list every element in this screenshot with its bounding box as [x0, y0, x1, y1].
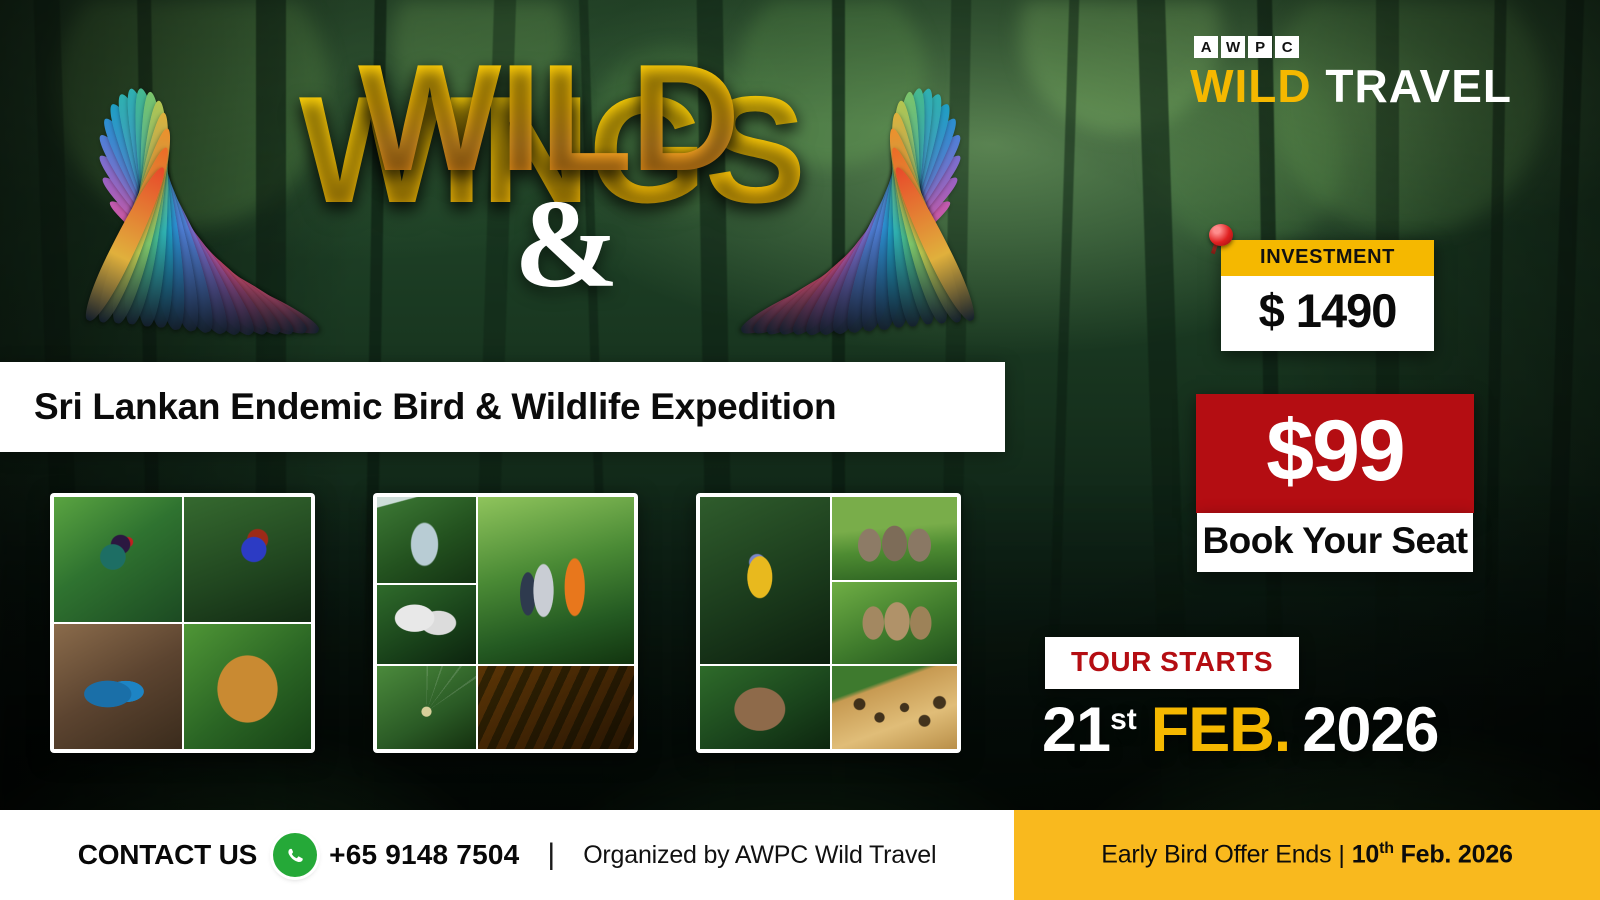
photo-trekkers-on-jungle-trail	[478, 497, 634, 664]
pushpin-icon	[1207, 224, 1235, 254]
early-bird-day-suffix: th	[1379, 840, 1394, 857]
photo-tree-nymph-butterfly	[377, 585, 476, 664]
photo-white-throated-kingfisher	[184, 497, 312, 622]
footer-bar: CONTACT US +65 9148 7504 | Organized by …	[0, 810, 1600, 900]
photo-asian-elephant-herd	[832, 497, 957, 580]
footer-contact-section: CONTACT US +65 9148 7504 | Organized by …	[0, 810, 1014, 900]
contact-phone[interactable]: +65 9148 7504	[329, 839, 519, 871]
pushpin-head	[1209, 224, 1233, 246]
photo-serendib-scops-owl	[184, 624, 312, 749]
logo-word-travel: TRAVEL	[1325, 60, 1512, 112]
early-bird-divider: |	[1338, 841, 1344, 869]
title-line-wild: WILD	[358, 48, 878, 189]
early-bird-day: 10	[1352, 841, 1379, 869]
photo-rainforest-waterfall	[377, 497, 476, 583]
photo-giant-wood-spider	[377, 666, 476, 749]
photo-green-pit-viper	[478, 666, 634, 749]
collage-birds-and-wildlife	[50, 493, 315, 753]
photo-collages	[50, 493, 961, 753]
early-bird-date: Feb. 2026	[1401, 841, 1513, 869]
photo-sri-lanka-frogmouths	[832, 582, 957, 665]
logo-badge-w: W	[1221, 36, 1245, 58]
deposit-price: $99	[1196, 394, 1474, 513]
investment-label: INVESTMENT	[1221, 240, 1434, 276]
investment-amount: $ 1490	[1221, 276, 1434, 351]
photo-sri-lanka-blue-magpie	[54, 497, 182, 622]
promo-banner: WINGS WILD & A W P C WILD TRAVEL Sri Lan…	[0, 0, 1600, 900]
whatsapp-icon[interactable]	[273, 833, 317, 877]
logo-word-wild: WILD	[1190, 60, 1312, 112]
logo-badge-c: C	[1275, 36, 1299, 58]
hero-title: WINGS WILD &	[238, 62, 878, 362]
logo-wordmark: WILD TRAVEL	[1190, 63, 1512, 109]
photo-blue-butterfly	[54, 624, 182, 749]
ampersand-glyph: &	[514, 182, 619, 308]
tour-month: FEB.	[1151, 695, 1291, 765]
footer-divider: |	[547, 838, 555, 872]
early-bird-text: Early Bird Offer Ends|10th Feb. 2026	[1101, 840, 1512, 869]
tour-starts-badge: TOUR STARTS	[1045, 637, 1299, 689]
subtitle-bar: Sri Lankan Endemic Bird & Wildlife Exped…	[0, 362, 1005, 452]
expedition-subtitle: Sri Lankan Endemic Bird & Wildlife Exped…	[34, 386, 836, 428]
photo-canary-flycatcher	[700, 497, 830, 664]
logo-badge-a: A	[1194, 36, 1218, 58]
contact-us-label: CONTACT US	[78, 839, 257, 871]
awpc-badges: A W P C	[1194, 36, 1512, 58]
tour-day: 21	[1042, 695, 1110, 765]
tour-day-suffix: st	[1110, 703, 1137, 736]
logo-badge-p: P	[1248, 36, 1272, 58]
booking-card[interactable]: $99 Book Your Seat	[1196, 394, 1474, 572]
early-bird-section: Early Bird Offer Ends|10th Feb. 2026	[1014, 810, 1600, 900]
investment-card: INVESTMENT $ 1490	[1221, 240, 1434, 351]
tour-start-date: 21stFEB.2026	[1042, 694, 1438, 766]
awpc-logo: A W P C WILD TRAVEL	[1190, 36, 1512, 109]
photo-sri-lankan-leopard	[832, 666, 957, 749]
photo-chestnut-backed-owlet	[700, 666, 830, 749]
tour-year: 2026	[1302, 695, 1438, 765]
collage-mammals-and-owls	[696, 493, 961, 753]
organizer-text: Organized by AWPC Wild Travel	[583, 841, 936, 870]
book-your-seat-button[interactable]: Book Your Seat	[1197, 513, 1473, 572]
collage-trek-and-nature	[373, 493, 638, 753]
early-bird-label: Early Bird Offer Ends	[1101, 841, 1331, 869]
